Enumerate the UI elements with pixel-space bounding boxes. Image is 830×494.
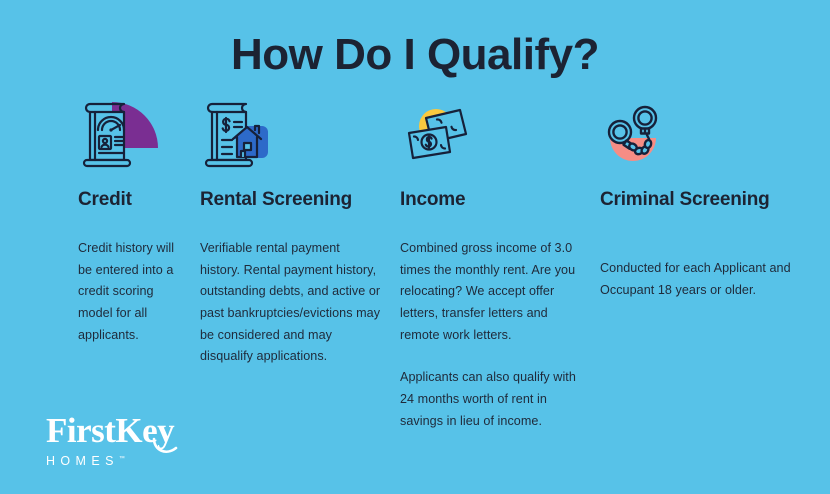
credit-report-gauge-icon xyxy=(78,100,154,172)
qualification-columns: Credit Credit history will be entered in… xyxy=(0,100,830,432)
column-body-criminal-screening-1: Conducted for each Applicant and Occupan… xyxy=(600,258,792,301)
column-heading-income: Income xyxy=(400,190,582,214)
column-body-income-2: Applicants can also qualify with 24 mont… xyxy=(400,367,582,432)
column-rental-screening: Rental Screening Verifiable rental payme… xyxy=(196,100,396,368)
column-credit: Credit Credit history will be entered in… xyxy=(0,100,196,346)
column-heading-rental-screening: Rental Screening xyxy=(200,190,382,214)
qualification-infographic: How Do I Qualify? xyxy=(0,0,830,494)
firstkey-homes-logo: FirstKey HOMES™ xyxy=(46,413,174,470)
column-body-rental-screening-1: Verifiable rental payment history. Renta… xyxy=(200,238,382,368)
logo-trademark: ™ xyxy=(119,456,125,462)
column-heading-credit: Credit xyxy=(78,190,182,214)
rental-agreement-house-icon xyxy=(200,100,276,172)
column-income: Income Combined gross income of 3.0 time… xyxy=(396,100,596,432)
column-criminal-screening: Criminal Screening Conducted for each Ap… xyxy=(596,100,806,301)
logo-wordmark: FirstKey xyxy=(46,413,174,448)
column-heading-criminal-screening: Criminal Screening xyxy=(600,190,792,234)
cash-banknotes-icon xyxy=(400,100,476,172)
handcuffs-icon xyxy=(600,100,676,172)
column-body-credit-1: Credit history will be entered into a cr… xyxy=(78,238,182,346)
logo-tagline: HOMES™ xyxy=(46,454,125,468)
logo-tagline-text: HOMES xyxy=(46,454,119,468)
logo-swash-flourish xyxy=(152,437,178,457)
page-title: How Do I Qualify? xyxy=(0,30,830,80)
column-body-income-1: Combined gross income of 3.0 times the m… xyxy=(400,238,582,346)
